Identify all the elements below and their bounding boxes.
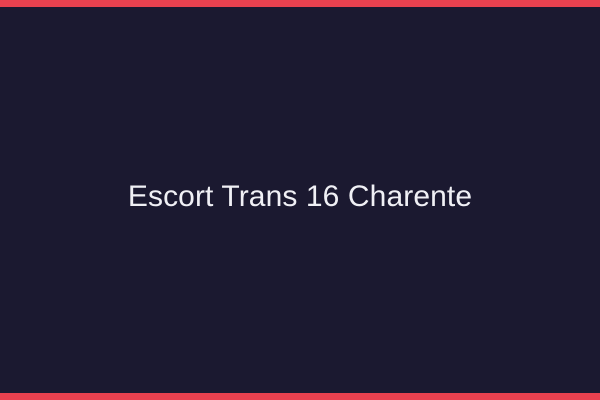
page-title: Escort Trans 16 Charente [128,179,472,215]
accent-bar-top [0,0,600,7]
banner-card: Escort Trans 16 Charente [0,0,600,400]
accent-bar-bottom [0,393,600,400]
